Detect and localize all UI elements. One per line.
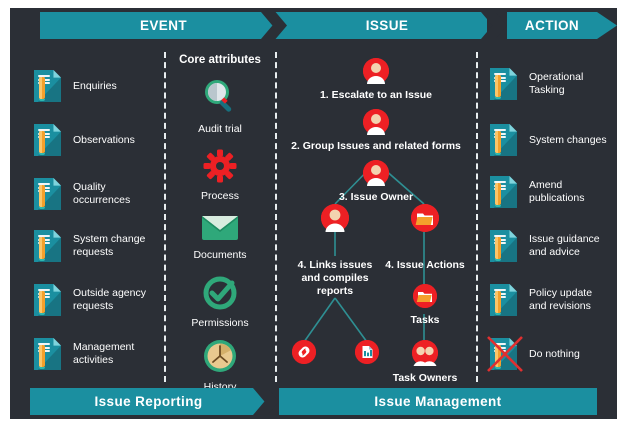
- header-segment-action[interactable]: ACTION: [507, 12, 597, 39]
- diagram-root: EVENT ISSUE ACTION Enquir: [0, 0, 627, 427]
- issue-node[interactable]: Task Owners: [377, 340, 473, 385]
- header-banner: EVENT ISSUE ACTION: [10, 12, 617, 39]
- person-icon: [363, 109, 389, 135]
- person-icon: [321, 204, 349, 232]
- column-divider-2: [275, 52, 277, 382]
- action-item-label: Do nothing: [529, 348, 580, 361]
- event-item[interactable]: Observations: [34, 124, 159, 156]
- diagram-panel: EVENT ISSUE ACTION Enquir: [10, 8, 617, 419]
- action-item-label: Issue guidance and advice: [529, 233, 610, 259]
- core-attribute-label: Permissions: [168, 317, 272, 329]
- core-attributes-column: Core attributes Audit trial: [168, 52, 272, 382]
- document-pencil-icon: [490, 68, 517, 100]
- event-item[interactable]: System change requests: [34, 230, 159, 262]
- issue-node[interactable]: Tasks: [377, 284, 473, 327]
- core-attribute-label: Process: [168, 190, 272, 202]
- issue-node-label: 3. Issue Owner: [279, 191, 473, 204]
- action-item-do-nothing[interactable]: Do nothing: [490, 338, 610, 370]
- issue-node[interactable]: 1. Escalate to an Issue: [279, 58, 473, 102]
- core-attribute-label: Documents: [168, 249, 272, 261]
- action-item[interactable]: Policy update and revisions: [490, 284, 610, 316]
- issue-node[interactable]: 4. Issue Actions: [377, 204, 473, 272]
- issue-node[interactable]: [286, 340, 322, 369]
- core-attribute-label: Audit trial: [168, 123, 272, 135]
- event-item[interactable]: Enquiries: [34, 70, 159, 102]
- document-pencil-icon: [34, 124, 61, 156]
- document-pencil-icon: [490, 176, 517, 208]
- envelope-icon: [201, 214, 239, 247]
- event-item-label: Management activities: [73, 341, 159, 367]
- action-item[interactable]: Amend publications: [490, 176, 610, 208]
- footer-segment-label: Issue Reporting: [30, 388, 267, 415]
- issue-node-label: 4. Links issues and compiles reports: [287, 259, 383, 298]
- clock-icon: [202, 338, 238, 379]
- issue-node-label: 2. Group Issues and related forms: [273, 140, 479, 153]
- person-icon: [363, 58, 389, 84]
- document-pencil-icon: [490, 124, 517, 156]
- footer-banner: Issue Reporting Issue Management: [10, 388, 617, 415]
- folder-icon: [411, 204, 439, 232]
- core-attribute-item[interactable]: Audit trial: [168, 76, 272, 135]
- event-item[interactable]: Outside agency requests: [34, 284, 159, 316]
- person-icon: [363, 160, 389, 186]
- column-divider-3: [476, 52, 478, 382]
- cross-out-icon: [486, 335, 524, 373]
- core-attribute-item[interactable]: Process: [168, 149, 272, 202]
- column-divider-1: [164, 52, 166, 382]
- event-item-label: Quality occurrences: [73, 181, 159, 207]
- core-attribute-item[interactable]: Documents: [168, 214, 272, 261]
- header-segment-event[interactable]: EVENT: [40, 12, 287, 39]
- link-chain-icon: [292, 340, 316, 364]
- folder-icon: [413, 284, 437, 308]
- header-segment-label: ISSUE: [287, 12, 487, 39]
- issue-node[interactable]: [349, 340, 385, 369]
- event-item-label: Outside agency requests: [73, 287, 159, 313]
- action-item-label: System changes: [529, 134, 607, 147]
- document-pencil-icon: [490, 338, 517, 370]
- core-attribute-item[interactable]: Permissions: [168, 276, 272, 329]
- event-item-label: System change requests: [73, 233, 159, 259]
- core-attributes-title: Core attributes: [168, 54, 272, 66]
- action-item-label: Policy update and revisions: [529, 287, 610, 313]
- issue-node-label: Tasks: [377, 314, 473, 327]
- core-attribute-item[interactable]: History: [168, 338, 272, 393]
- magnifier-icon: [200, 76, 240, 121]
- issue-node[interactable]: 3. Issue Owner: [279, 160, 473, 204]
- document-pencil-icon: [490, 230, 517, 262]
- document-pencil-icon: [34, 284, 61, 316]
- issue-tree: 1. Escalate to an Issue 2. Group Issues …: [279, 52, 473, 382]
- issue-node[interactable]: 4. Links issues and compiles reports: [287, 204, 383, 298]
- footer-segment-label: Issue Management: [279, 388, 597, 415]
- header-segment-label: EVENT: [40, 12, 287, 39]
- event-item-label: Observations: [73, 134, 135, 147]
- document-pencil-icon: [34, 70, 61, 102]
- issue-node-label: 1. Escalate to an Issue: [279, 89, 473, 102]
- header-segment-label: ACTION: [507, 12, 597, 39]
- action-item-label: Operational Tasking: [529, 71, 610, 97]
- document-pencil-icon: [34, 338, 61, 370]
- footer-segment-issue-management[interactable]: Issue Management: [279, 388, 597, 415]
- header-arrow-tip-icon: [597, 12, 617, 39]
- action-item[interactable]: System changes: [490, 124, 610, 156]
- document-pencil-icon: [34, 178, 61, 210]
- action-item-label: Amend publications: [529, 179, 610, 205]
- issue-node-label: Task Owners: [377, 372, 473, 385]
- header-segment-issue[interactable]: ISSUE: [287, 12, 487, 39]
- issue-node[interactable]: 2. Group Issues and related forms: [273, 109, 479, 153]
- footer-segment-issue-reporting[interactable]: Issue Reporting: [30, 388, 267, 415]
- event-item[interactable]: Quality occurrences: [34, 178, 159, 210]
- issue-node-label: 4. Issue Actions: [377, 259, 473, 272]
- document-pencil-icon: [490, 284, 517, 316]
- action-item[interactable]: Issue guidance and advice: [490, 230, 610, 262]
- event-item-label: Enquiries: [73, 80, 117, 93]
- check-circle-icon: [203, 276, 237, 315]
- event-item[interactable]: Management activities: [34, 338, 159, 370]
- gear-icon: [203, 149, 237, 188]
- report-document-icon: [355, 340, 379, 364]
- group-people-icon: [412, 340, 438, 366]
- action-item[interactable]: Operational Tasking: [490, 68, 610, 100]
- document-pencil-icon: [34, 230, 61, 262]
